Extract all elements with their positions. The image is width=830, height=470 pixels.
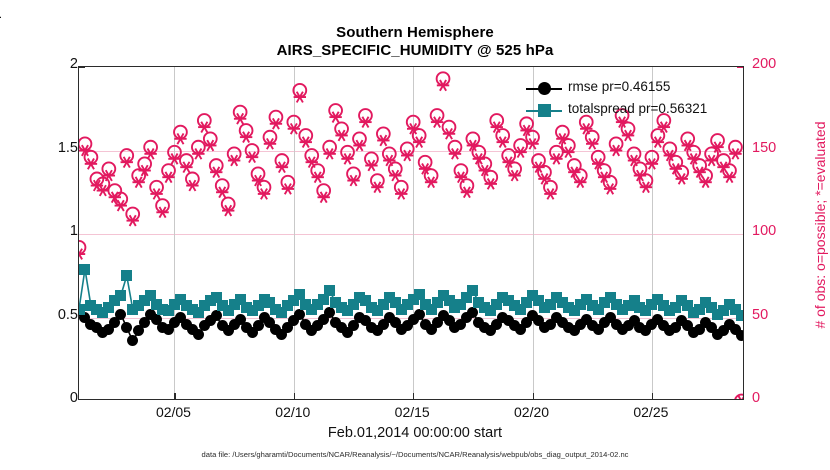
obs-possible-marker xyxy=(383,147,396,160)
obs-possible-marker xyxy=(341,146,354,159)
obs-possible-marker xyxy=(270,111,283,124)
y-axis-left-tick: 1.5 xyxy=(18,140,78,156)
obs-evaluated-marker xyxy=(508,170,520,181)
obs-evaluated-marker xyxy=(491,122,503,133)
obs-evaluated-marker xyxy=(574,177,586,188)
totalspread-marker xyxy=(121,270,132,281)
obs-evaluated-marker xyxy=(174,133,186,144)
obs-evaluated-marker xyxy=(699,177,711,188)
obs-possible-marker xyxy=(264,131,277,144)
obs-evaluated-marker xyxy=(544,189,556,200)
totalspread-marker xyxy=(324,285,335,296)
legend-marker-totalspread xyxy=(538,104,551,117)
obs-evaluated-marker xyxy=(646,158,658,169)
obs-evaluated-marker xyxy=(121,157,133,168)
obs-evaluated-marker xyxy=(216,187,228,198)
obs-possible-marker xyxy=(437,72,450,85)
obs-evaluated-marker xyxy=(323,148,335,159)
y-axis-left-label: rmse and totalspread xyxy=(0,0,2,160)
y-axis-left-tick: 0 xyxy=(18,390,78,406)
obs-evaluated-marker xyxy=(359,117,371,128)
y-axis-left-tick: 2 xyxy=(18,56,78,72)
obs-evaluated-marker xyxy=(514,147,526,158)
obs-possible-marker xyxy=(150,181,163,194)
obs-evaluated-marker xyxy=(622,130,634,141)
obs-evaluated-marker xyxy=(729,148,741,159)
obs-evaluated-marker xyxy=(353,140,365,151)
obs-evaluated-marker xyxy=(371,182,383,193)
obs-possible-marker xyxy=(198,114,211,127)
rmse-marker xyxy=(294,309,305,320)
obs-evaluated-marker xyxy=(156,207,168,218)
obs-evaluated-marker xyxy=(526,138,538,149)
obs-possible-marker xyxy=(138,157,151,170)
obs-evaluated-marker xyxy=(413,137,425,148)
obs-possible-marker xyxy=(174,126,187,139)
obs-evaluated-marker xyxy=(628,155,640,166)
obs-evaluated-marker xyxy=(306,157,318,168)
obs-evaluated-marker xyxy=(550,153,562,164)
obs-evaluated-marker xyxy=(180,162,192,173)
obs-evaluated-marker xyxy=(192,148,204,159)
obs-evaluated-marker xyxy=(132,177,144,188)
obs-evaluated-marker xyxy=(204,140,216,151)
obs-evaluated-marker xyxy=(610,145,622,156)
obs-possible-marker xyxy=(490,114,503,127)
x-axis-tick: 02/10 xyxy=(248,404,338,420)
legend-marker-rmse xyxy=(538,82,551,95)
obs-possible-marker xyxy=(335,122,348,135)
obs-possible-marker xyxy=(222,198,235,211)
obs-possible-marker xyxy=(628,147,641,160)
obs-evaluated-marker xyxy=(246,152,258,163)
obs-possible-marker xyxy=(299,129,312,142)
obs-evaluated-marker xyxy=(347,175,359,186)
obs-evaluated-marker xyxy=(652,137,664,148)
obs-possible-marker xyxy=(610,137,623,150)
obs-possible-marker xyxy=(287,116,300,129)
obs-possible-marker xyxy=(711,134,724,147)
obs-possible-marker xyxy=(144,141,157,154)
obs-possible-marker xyxy=(663,142,676,155)
rmse-marker xyxy=(115,309,126,320)
obs-possible-marker xyxy=(323,141,336,154)
obs-possible-marker xyxy=(359,109,372,122)
obs-possible-marker xyxy=(252,167,265,180)
obs-possible-marker xyxy=(449,141,462,154)
y-axis-right-tick: 200 xyxy=(752,56,812,72)
totalspread-marker xyxy=(79,264,90,275)
obs-evaluated-marker xyxy=(365,160,377,171)
obs-evaluated-marker xyxy=(389,170,401,181)
obs-evaluated-marker xyxy=(317,192,329,203)
obs-possible-marker xyxy=(228,147,241,160)
obs-evaluated-marker xyxy=(288,123,300,134)
rmse-marker xyxy=(414,309,425,320)
obs-possible-marker xyxy=(681,132,694,145)
obs-possible-marker xyxy=(550,146,563,159)
obs-evaluated-marker xyxy=(640,182,652,193)
obs-evaluated-marker xyxy=(85,158,97,169)
obs-evaluated-marker xyxy=(538,174,550,185)
y-axis-left-tick: 1 xyxy=(18,223,78,239)
obs-evaluated-marker xyxy=(294,92,306,103)
obs-evaluated-marker xyxy=(562,147,574,158)
obs-evaluated-marker xyxy=(282,184,294,195)
chart-figure: Southern Hemisphere AIRS_SPECIFIC_HUMIDI… xyxy=(0,0,830,470)
x-axis-tick: 02/20 xyxy=(487,404,577,420)
obs-possible-marker xyxy=(532,154,545,167)
obs-evaluated-marker xyxy=(228,155,240,166)
obs-possible-marker xyxy=(514,139,527,152)
obs-possible-marker xyxy=(455,164,468,177)
obs-possible-marker xyxy=(281,176,294,189)
totalspread-marker xyxy=(115,290,126,301)
obs-evaluated-marker xyxy=(150,189,162,200)
y-axis-left-tick: 0.5 xyxy=(18,307,78,323)
obs-evaluated-marker xyxy=(222,205,234,216)
obs-possible-marker xyxy=(216,179,229,192)
obs-possible-marker xyxy=(365,152,378,165)
chart-title-line1: Southern Hemisphere xyxy=(0,24,830,41)
chart-legend: rmse pr=0.46155 totalspread pr=0.56321 xyxy=(526,78,738,124)
obs-possible-marker xyxy=(156,199,169,212)
obs-evaluated-marker xyxy=(210,167,222,178)
y-axis-right-tick: 50 xyxy=(752,307,812,323)
x-axis-tick: 02/25 xyxy=(606,404,696,420)
obs-possible-marker xyxy=(168,146,181,159)
obs-possible-marker xyxy=(192,141,205,154)
obs-evaluated-marker xyxy=(258,189,270,200)
obs-possible-marker xyxy=(162,164,175,177)
obs-possible-marker xyxy=(556,126,569,139)
x-axis-tick: 02/15 xyxy=(367,404,457,420)
obs-possible-marker xyxy=(305,149,318,162)
obs-possible-marker xyxy=(293,84,306,97)
obs-evaluated-marker xyxy=(264,138,276,149)
obs-possible-marker xyxy=(180,154,193,167)
chart-title-line2: AIRS_SPECIFIC_HUMIDITY @ 525 hPa xyxy=(0,42,830,59)
obs-evaluated-marker xyxy=(377,135,389,146)
obs-possible-marker xyxy=(371,174,384,187)
obs-evaluated-marker xyxy=(276,162,288,173)
totalspread-marker xyxy=(79,304,85,315)
obs-evaluated-marker xyxy=(586,138,598,149)
x-axis-tick: 02/05 xyxy=(128,404,218,420)
y-axis-right-tick: 0 xyxy=(752,390,812,406)
obs-evaluated-marker xyxy=(443,128,455,139)
obs-possible-marker xyxy=(431,109,444,122)
obs-evaluated-marker xyxy=(335,130,347,141)
totalspread-marker xyxy=(736,310,743,321)
legend-label-totalspread: totalspread pr=0.56321 xyxy=(568,101,707,116)
obs-evaluated-marker xyxy=(431,117,443,128)
obs-possible-marker xyxy=(646,151,659,164)
obs-evaluated-marker xyxy=(103,170,115,181)
obs-possible-marker xyxy=(395,181,408,194)
obs-evaluated-marker xyxy=(329,112,341,123)
obs-possible-marker xyxy=(466,132,479,145)
obs-possible-marker xyxy=(347,167,360,180)
y-axis-right-label: # of obs: o=possible; *=evaluated xyxy=(812,60,828,390)
obs-evaluated-marker xyxy=(461,187,473,198)
obs-possible-marker xyxy=(419,156,432,169)
obs-possible-marker xyxy=(276,154,289,167)
obs-evaluated-marker xyxy=(168,153,180,164)
obs-possible-marker xyxy=(234,106,247,119)
obs-possible-marker xyxy=(377,127,390,140)
y-axis-right-tick: 150 xyxy=(752,140,812,156)
obs-evaluated-marker xyxy=(449,148,461,159)
obs-evaluated-marker xyxy=(425,177,437,188)
obs-evaluated-marker xyxy=(437,80,449,91)
obs-evaluated-marker xyxy=(341,153,353,164)
legend-label-rmse: rmse pr=0.46155 xyxy=(568,79,670,94)
obs-possible-marker xyxy=(592,151,605,164)
obs-evaluated-marker xyxy=(604,184,616,195)
obs-evaluated-marker xyxy=(705,155,717,166)
totalspread-marker xyxy=(467,285,478,296)
obs-possible-marker xyxy=(186,172,199,185)
obs-evaluated-marker xyxy=(497,137,509,148)
obs-evaluated-marker xyxy=(186,180,198,191)
obs-possible-marker xyxy=(317,184,330,197)
obs-possible-marker xyxy=(240,124,253,137)
obs-evaluated-marker xyxy=(240,132,252,143)
obs-evaluated-marker xyxy=(312,172,324,183)
obs-possible-marker xyxy=(729,141,742,154)
obs-evaluated-marker xyxy=(395,189,407,200)
obs-possible-marker xyxy=(329,104,342,117)
obs-evaluated-marker xyxy=(234,113,246,124)
obs-possible-marker xyxy=(353,132,366,145)
data-file-caption: data file: /Users/gharamti/Documents/NCA… xyxy=(0,450,830,459)
obs-possible-marker xyxy=(120,149,133,162)
rmse-marker xyxy=(736,330,743,341)
obs-evaluated-marker xyxy=(455,172,467,183)
obs-evaluated-marker xyxy=(127,215,139,226)
obs-evaluated-marker xyxy=(485,179,497,190)
obs-possible-marker xyxy=(102,162,115,175)
obs-possible-marker xyxy=(204,132,217,145)
obs-evaluated-marker xyxy=(676,174,688,185)
obs-possible-marker xyxy=(443,121,456,134)
obs-evaluated-marker xyxy=(580,123,592,134)
obs-possible-marker xyxy=(401,142,414,155)
obs-evaluated-marker xyxy=(198,122,210,133)
obs-possible-marker xyxy=(502,149,515,162)
x-axis-label: Feb.01,2014 00:00:00 start xyxy=(0,425,830,441)
obs-possible-marker xyxy=(126,208,139,221)
obs-evaluated-marker xyxy=(401,150,413,161)
obs-evaluated-marker xyxy=(723,172,735,183)
obs-possible-marker xyxy=(210,159,223,172)
obs-possible-marker xyxy=(246,144,259,157)
obs-evaluated-marker xyxy=(270,118,282,129)
obs-evaluated-marker xyxy=(383,155,395,166)
obs-evaluated-marker xyxy=(300,137,312,148)
y-axis-right-tick: 100 xyxy=(752,223,812,239)
obs-possible-marker xyxy=(407,116,420,129)
obs-evaluated-marker xyxy=(162,172,174,183)
